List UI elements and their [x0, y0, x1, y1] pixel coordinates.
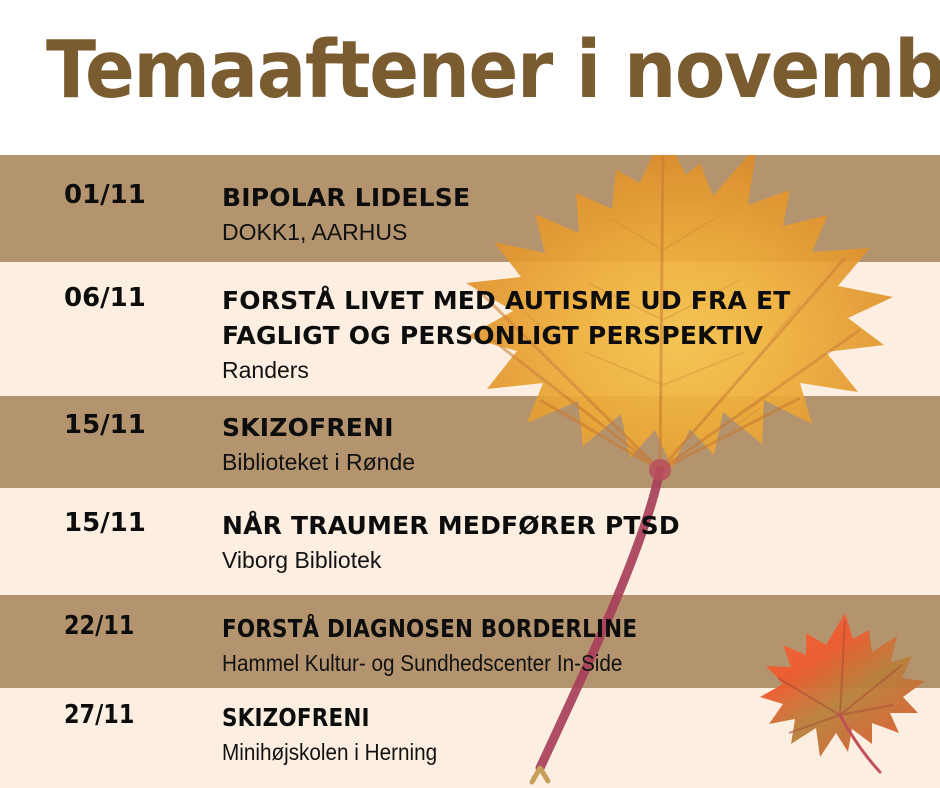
- poster-header: Temaaftener i november: [0, 0, 940, 155]
- event-date: 15/11: [64, 410, 214, 440]
- event-date: 06/11: [64, 283, 214, 313]
- page-title: Temaaftener i november: [46, 22, 940, 118]
- event-title: NÅR TRAUMER MEDFØRER PTSD: [222, 508, 922, 543]
- event-title: SKIZOFRENI: [222, 410, 922, 445]
- event-title: FORSTÅ LIVET MED AUTISME UD FRA ET FAGLI…: [222, 283, 922, 353]
- event-date: 22/11: [64, 611, 193, 641]
- event-title: SKIZOFRENI: [222, 700, 824, 735]
- event-venue: Biblioteket i Rønde: [222, 447, 922, 477]
- event-venue: Minihøjskolen i Herning: [222, 737, 852, 767]
- event-date: 15/11: [64, 508, 214, 538]
- event-title: BIPOLAR LIDELSE: [222, 180, 922, 215]
- event-venue: Viborg Bibliotek: [222, 545, 922, 575]
- event-venue: DOKK1, AARHUS: [222, 217, 922, 247]
- event-venue: Randers: [222, 355, 922, 385]
- event-venue: Hammel Kultur- og Sundhedscenter In-Side: [222, 648, 852, 678]
- event-date: 27/11: [64, 700, 193, 730]
- event-title: FORSTÅ DIAGNOSEN BORDERLINE: [222, 611, 824, 646]
- poster-canvas: Temaaftener i november 01/11 BIPOLAR LID…: [0, 0, 940, 788]
- event-date: 01/11: [64, 180, 214, 210]
